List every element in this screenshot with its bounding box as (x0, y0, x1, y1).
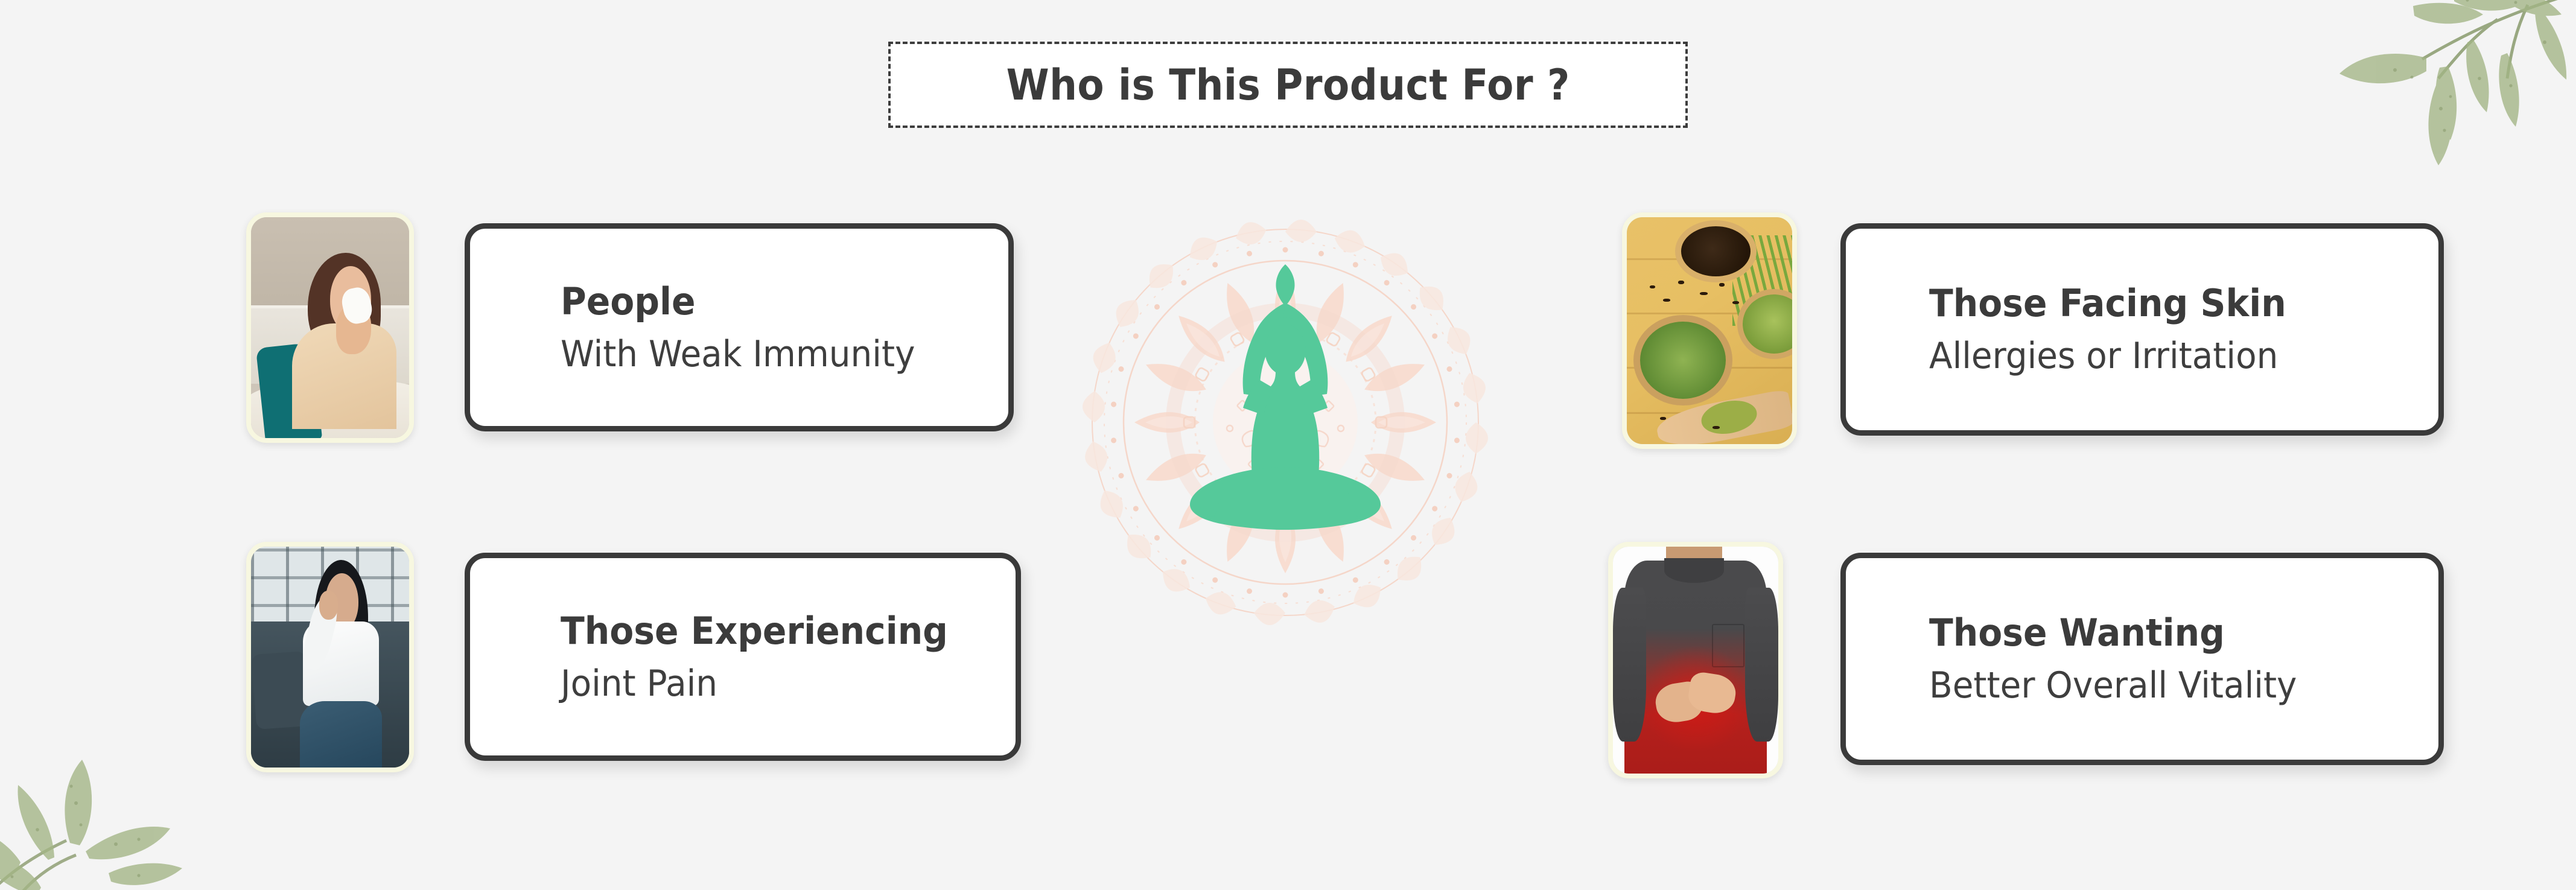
card-text: Those Experiencing Joint Pain (561, 612, 973, 702)
card-subtitle: With Weak Immunity (561, 336, 915, 372)
page-title: Who is This Product For ? (1006, 60, 1569, 110)
card-title: People (561, 283, 915, 320)
card-panel: Those Facing Skin Allergies or Irritatio… (1840, 223, 2444, 436)
card-panel: People With Weak Immunity (465, 223, 1014, 431)
card-panel: Those Experiencing Joint Pain (465, 553, 1021, 761)
card-text: Those Wanting Better Overall Vitality (1929, 614, 2320, 704)
card-text: Those Facing Skin Allergies or Irritatio… (1929, 285, 2309, 374)
card-panel: Those Wanting Better Overall Vitality (1840, 553, 2444, 765)
woman-on-sofa-photo (246, 542, 414, 772)
page-title-box: Who is This Product For ? (888, 42, 1688, 128)
card-text: People With Weak Immunity (561, 283, 938, 372)
leaf-branch-decoration-bottom-left (0, 715, 284, 890)
woman-sick-in-bed-photo (246, 212, 414, 443)
card-subtitle: Allergies or Irritation (1929, 338, 2286, 374)
card-subtitle: Joint Pain (561, 666, 948, 702)
leaf-branch-decoration-top-right (2214, 0, 2576, 223)
card-subtitle: Better Overall Vitality (1929, 667, 2297, 704)
card-title: Those Wanting (1929, 614, 2297, 652)
poster-canvas: Who is This Product For ? People With We… (0, 0, 2576, 890)
center-artwork (1068, 199, 1503, 646)
card-title: Those Experiencing (561, 612, 948, 650)
card-title: Those Facing Skin (1929, 285, 2286, 322)
person-holding-stomach-photo (1608, 542, 1783, 778)
herbs-and-spices-photo (1622, 212, 1797, 449)
